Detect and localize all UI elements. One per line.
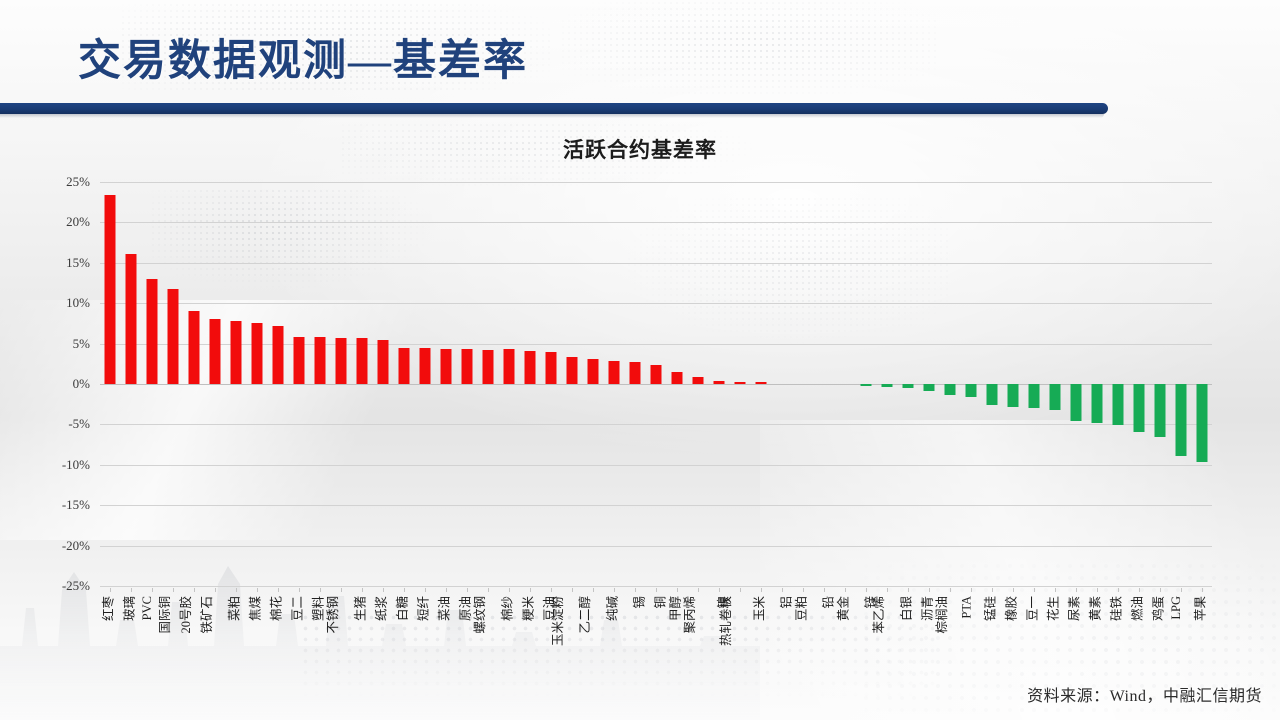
chart-bar bbox=[168, 289, 179, 384]
chart-bar bbox=[546, 352, 557, 384]
chart-bar bbox=[1175, 384, 1186, 456]
x-axis-tick bbox=[677, 588, 678, 592]
x-axis-tick-label: 焦煤 bbox=[245, 596, 264, 621]
x-axis-tick-label: 纸浆 bbox=[371, 596, 390, 621]
x-axis-tick-label: PTA bbox=[959, 596, 974, 619]
x-axis-tick bbox=[782, 588, 783, 592]
x-axis-tick-label: 玉米 bbox=[748, 596, 767, 621]
chart-bar bbox=[504, 349, 515, 384]
chart-bar-slot bbox=[834, 182, 855, 586]
chart-bar-slot bbox=[918, 182, 939, 586]
x-axis-tick bbox=[446, 588, 447, 592]
x-axis-tick-label: 铁矿石 bbox=[197, 596, 216, 634]
chart-title: 活跃合约基差率 bbox=[0, 134, 1280, 164]
chart-bar bbox=[294, 337, 305, 384]
chart-bar-slot bbox=[121, 182, 142, 586]
y-axis-tick-text: -15% bbox=[62, 497, 98, 512]
chart-bar bbox=[567, 357, 578, 384]
chart-bar bbox=[713, 381, 724, 384]
x-axis-tick bbox=[719, 588, 720, 592]
y-axis-tick-text: 10% bbox=[66, 295, 98, 310]
chart-bar bbox=[671, 372, 682, 384]
x-axis-tick-label: 苯乙烯 bbox=[868, 596, 887, 634]
x-axis-tick bbox=[257, 588, 258, 592]
y-axis-tick-label: -20% bbox=[38, 538, 98, 554]
x-axis-tick bbox=[215, 588, 216, 592]
x-axis-tick bbox=[383, 588, 384, 592]
x-axis-tick-label: 燃油 bbox=[1126, 596, 1145, 621]
x-axis-tick-label: 尿素 bbox=[1063, 596, 1082, 621]
slide-canvas: 交易数据观测—基差率 活跃合约基差率 25%20%15%10%5%0%-5%-1… bbox=[0, 0, 1280, 720]
y-axis-tick-text: -5% bbox=[68, 416, 98, 431]
x-axis-tick bbox=[236, 588, 237, 592]
x-axis-tick bbox=[866, 588, 867, 592]
chart-bar-slot bbox=[520, 182, 541, 586]
x-axis-tick bbox=[1076, 588, 1077, 592]
chart-bar bbox=[483, 350, 494, 384]
chart-bar-slot bbox=[625, 182, 646, 586]
chart-bar bbox=[965, 384, 976, 397]
x-axis-tick bbox=[1097, 588, 1098, 592]
x-axis-tick bbox=[887, 588, 888, 592]
x-axis-tick bbox=[824, 588, 825, 592]
x-axis-tick-label: 生猪 bbox=[350, 596, 369, 621]
y-axis-tick-text: 20% bbox=[66, 214, 98, 229]
chart-bar-slot bbox=[499, 182, 520, 586]
chart-bar bbox=[1007, 384, 1018, 407]
chart-bar-slot bbox=[939, 182, 960, 586]
chart-bar bbox=[1196, 384, 1207, 462]
y-axis-tick-text: -25% bbox=[62, 578, 98, 593]
x-axis-tick-label: 鸡蛋 bbox=[1147, 596, 1166, 621]
chart-bar-slot bbox=[708, 182, 729, 586]
x-axis-tick-label: 20号胶 bbox=[176, 596, 195, 634]
x-axis-tick-label: 菜粕 bbox=[224, 596, 243, 621]
x-axis-tick bbox=[131, 588, 132, 592]
chart-bar-slot bbox=[1086, 182, 1107, 586]
y-axis-tick-label: -15% bbox=[38, 497, 98, 513]
chart-bar bbox=[630, 362, 641, 384]
chart-bar-slot bbox=[646, 182, 667, 586]
chart-bar-slot bbox=[1002, 182, 1023, 586]
chart-gridline bbox=[100, 586, 1212, 587]
x-axis-tick bbox=[509, 588, 510, 592]
chart-bar-slot bbox=[729, 182, 750, 586]
x-axis-tick bbox=[1139, 588, 1140, 592]
chart-bar-slot bbox=[562, 182, 583, 586]
y-axis-tick-label: 0% bbox=[38, 376, 98, 392]
chart-bar bbox=[525, 351, 536, 384]
x-axis-tick-label: 短纤 bbox=[413, 596, 432, 621]
chart-bar-slot bbox=[310, 182, 331, 586]
chart-bar-slot bbox=[436, 182, 457, 586]
source-note: 资料来源：Wind，中融汇信期货 bbox=[1027, 682, 1262, 706]
x-axis-tick bbox=[341, 588, 342, 592]
chart-bar bbox=[420, 348, 431, 384]
chart-bar bbox=[944, 384, 955, 395]
chart-bar bbox=[357, 338, 368, 384]
x-axis-tick-label: 乙二醇 bbox=[574, 596, 593, 634]
title-divider bbox=[0, 103, 1108, 114]
chart-bar-slot bbox=[268, 182, 289, 586]
chart-bar bbox=[755, 382, 766, 384]
x-axis-tick-label: 玻璃 bbox=[119, 596, 138, 621]
x-axis-tick bbox=[362, 588, 363, 592]
title-divider-shadow bbox=[0, 114, 1104, 118]
chart-bar-slot bbox=[247, 182, 268, 586]
y-axis-tick-text: 15% bbox=[66, 255, 98, 270]
x-axis-tick bbox=[530, 588, 531, 592]
chart-bar-slot bbox=[394, 182, 415, 586]
y-axis-tick-text: -10% bbox=[62, 457, 98, 472]
x-axis-tick bbox=[551, 588, 552, 592]
x-axis-tick-label: 不锈钢 bbox=[323, 596, 342, 634]
chart-bar-slot bbox=[331, 182, 352, 586]
x-axis-tick-label: 热轧卷板 bbox=[715, 596, 734, 646]
x-axis-tick bbox=[320, 588, 321, 592]
x-axis-tick-label: 豆二 bbox=[287, 596, 306, 621]
chart-bar-slot bbox=[1023, 182, 1044, 586]
x-axis-tick-label: 黄金 bbox=[832, 596, 851, 621]
chart-bar-slot bbox=[1044, 182, 1065, 586]
y-axis-tick-text: 0% bbox=[73, 376, 98, 391]
chart-bar-slot bbox=[687, 182, 708, 586]
chart-bar-slot bbox=[184, 182, 205, 586]
x-axis-tick bbox=[656, 588, 657, 592]
chart-bar bbox=[273, 326, 284, 384]
chart-bar bbox=[126, 254, 137, 384]
x-axis-tick-label: 红枣 bbox=[98, 596, 117, 621]
chart-bar bbox=[105, 195, 116, 384]
x-axis-tick bbox=[572, 588, 573, 592]
x-axis-tick bbox=[1013, 588, 1014, 592]
x-axis-tick bbox=[635, 588, 636, 592]
chart-bar-slot bbox=[415, 182, 436, 586]
x-axis-tick-label: 玉米淀粉 bbox=[547, 596, 566, 646]
x-axis-tick-label: 豆一 bbox=[1021, 596, 1040, 621]
x-axis-tick bbox=[992, 588, 993, 592]
chart-bar-slot bbox=[1170, 182, 1191, 586]
y-axis-tick-label: -25% bbox=[38, 578, 98, 594]
x-axis-tick bbox=[1034, 588, 1035, 592]
chart-bar-slot bbox=[352, 182, 373, 586]
chart-bar bbox=[609, 361, 620, 384]
chart-container: 活跃合约基差率 25%20%15%10%5%0%-5%-10%-15%-20%-… bbox=[0, 128, 1280, 688]
x-axis-tick-label: 豆粕 bbox=[790, 596, 809, 621]
chart-bar-slot bbox=[855, 182, 876, 586]
x-axis-tick-label: 白银 bbox=[895, 596, 914, 621]
x-axis-tick bbox=[971, 588, 972, 592]
chart-bar bbox=[1091, 384, 1102, 423]
x-axis-tick bbox=[152, 588, 153, 592]
x-axis-tick bbox=[488, 588, 489, 592]
page-title: 交易数据观测—基差率 bbox=[78, 26, 528, 88]
chart-bar-slot bbox=[226, 182, 247, 586]
chart-bar-slot bbox=[100, 182, 121, 586]
chart-bar-slot bbox=[876, 182, 897, 586]
x-axis-tick-label: 国际铜 bbox=[155, 596, 174, 634]
chart-bar-slot bbox=[604, 182, 625, 586]
chart-bar-slot bbox=[163, 182, 184, 586]
x-axis-tick-label: 锡 bbox=[629, 596, 648, 609]
chart-bar bbox=[189, 311, 200, 384]
chart-bar bbox=[1049, 384, 1060, 410]
y-axis-tick-label: 5% bbox=[38, 336, 98, 352]
chart-bar bbox=[210, 319, 221, 384]
x-axis-tick-label: 纯碱 bbox=[602, 596, 621, 621]
x-axis-tick bbox=[929, 588, 930, 592]
x-axis-tick bbox=[845, 588, 846, 592]
chart-bar-slot bbox=[457, 182, 478, 586]
x-axis-tick-label: 锰硅 bbox=[979, 596, 998, 621]
x-axis-tick-label: 螺纹钢 bbox=[469, 596, 488, 634]
chart-bar bbox=[147, 279, 158, 384]
x-axis-tick bbox=[1055, 588, 1056, 592]
chart-bar-slot bbox=[142, 182, 163, 586]
chart-bar-slot bbox=[373, 182, 394, 586]
chart-bar bbox=[1112, 384, 1123, 425]
chart-bar bbox=[336, 338, 347, 384]
chart-bar-slot bbox=[541, 182, 562, 586]
chart-plot-area: 25%20%15%10%5%0%-5%-10%-15%-20%-25% 红枣玻璃… bbox=[100, 182, 1212, 586]
chart-bar bbox=[881, 384, 892, 387]
x-axis-tick bbox=[1202, 588, 1203, 592]
x-axis-tick bbox=[1181, 588, 1182, 592]
x-axis-tick bbox=[1160, 588, 1161, 592]
chart-bar bbox=[231, 321, 242, 384]
x-axis-tick-label: PVC bbox=[140, 596, 155, 620]
y-axis-tick-label: 25% bbox=[38, 174, 98, 190]
x-axis-tick-label: 菜油 bbox=[434, 596, 453, 621]
x-axis-tick bbox=[740, 588, 741, 592]
x-axis-tick bbox=[467, 588, 468, 592]
chart-bar bbox=[860, 384, 871, 386]
x-axis-tick bbox=[614, 588, 615, 592]
x-axis-tick bbox=[194, 588, 195, 592]
x-axis-tick-label: 黄素 bbox=[1084, 596, 1103, 621]
chart-bar bbox=[378, 340, 389, 384]
chart-bar-slot bbox=[289, 182, 310, 586]
x-axis-tick bbox=[698, 588, 699, 592]
x-axis-tick bbox=[425, 588, 426, 592]
chart-bar-slot bbox=[771, 182, 792, 586]
chart-bar bbox=[1154, 384, 1165, 437]
chart-bars bbox=[100, 182, 1212, 586]
chart-bar-slot bbox=[981, 182, 1002, 586]
chart-bar bbox=[650, 365, 661, 384]
chart-bar bbox=[252, 323, 263, 384]
chart-bar-slot bbox=[750, 182, 771, 586]
x-axis-tick bbox=[908, 588, 909, 592]
chart-bar bbox=[734, 382, 745, 384]
x-axis-tick-label: 粳米 bbox=[518, 596, 537, 621]
chart-bar bbox=[1028, 384, 1039, 408]
chart-bar-slot bbox=[813, 182, 834, 586]
chart-bar-slot bbox=[792, 182, 813, 586]
x-axis-tick bbox=[299, 588, 300, 592]
chart-bar bbox=[923, 384, 934, 391]
chart-bar-slot bbox=[1149, 182, 1170, 586]
y-axis-tick-label: -5% bbox=[38, 416, 98, 432]
chart-bar-slot bbox=[1107, 182, 1128, 586]
x-axis-tick bbox=[761, 588, 762, 592]
chart-bar-slot bbox=[1191, 182, 1212, 586]
x-axis-tick bbox=[803, 588, 804, 592]
chart-bar bbox=[1133, 384, 1144, 432]
chart-bar bbox=[692, 377, 703, 384]
chart-bar-slot bbox=[583, 182, 604, 586]
chart-bar-slot bbox=[960, 182, 981, 586]
chart-bar bbox=[1070, 384, 1081, 421]
chart-bar-slot bbox=[205, 182, 226, 586]
x-axis-tick bbox=[110, 588, 111, 592]
chart-bar-slot bbox=[1065, 182, 1086, 586]
x-axis-tick bbox=[1118, 588, 1119, 592]
chart-bar bbox=[441, 349, 452, 384]
y-axis-tick-label: 15% bbox=[38, 255, 98, 271]
chart-bar bbox=[902, 384, 913, 388]
x-axis-tick-label: 棕榈油 bbox=[931, 596, 950, 634]
x-axis-tick-label: LPG bbox=[1169, 596, 1184, 620]
x-axis-tick-label: 苹果 bbox=[1189, 596, 1208, 621]
chart-bar bbox=[986, 384, 997, 405]
x-axis-tick bbox=[950, 588, 951, 592]
chart-bar bbox=[399, 348, 410, 384]
chart-bar-slot bbox=[666, 182, 687, 586]
x-axis-tick-label: 棉纱 bbox=[497, 596, 516, 621]
x-axis-tick-label: 聚丙烯 bbox=[679, 596, 698, 634]
x-axis-tick-label: 棉花 bbox=[266, 596, 285, 621]
dot-texture-icon bbox=[560, 0, 940, 96]
chart-bar bbox=[462, 349, 473, 384]
y-axis-tick-text: 25% bbox=[66, 174, 98, 189]
chart-bar bbox=[315, 337, 326, 384]
chart-bar-slot bbox=[1128, 182, 1149, 586]
x-axis-tick-label: 花生 bbox=[1042, 596, 1061, 621]
x-axis-tick bbox=[278, 588, 279, 592]
y-axis-tick-label: 10% bbox=[38, 295, 98, 311]
chart-bar-slot bbox=[478, 182, 499, 586]
y-axis-tick-label: -10% bbox=[38, 457, 98, 473]
x-axis-tick bbox=[173, 588, 174, 592]
y-axis-tick-text: 5% bbox=[73, 336, 98, 351]
x-axis-tick-label: 白糖 bbox=[392, 596, 411, 621]
chart-bar bbox=[588, 359, 599, 384]
chart-bar-slot bbox=[897, 182, 918, 586]
x-axis-tick bbox=[593, 588, 594, 592]
x-axis-tick bbox=[404, 588, 405, 592]
x-axis-tick-label: 橡胶 bbox=[1000, 596, 1019, 621]
x-axis-tick-label: 硅铁 bbox=[1105, 596, 1124, 621]
y-axis-tick-label: 20% bbox=[38, 214, 98, 230]
y-axis-tick-text: -20% bbox=[62, 538, 98, 553]
